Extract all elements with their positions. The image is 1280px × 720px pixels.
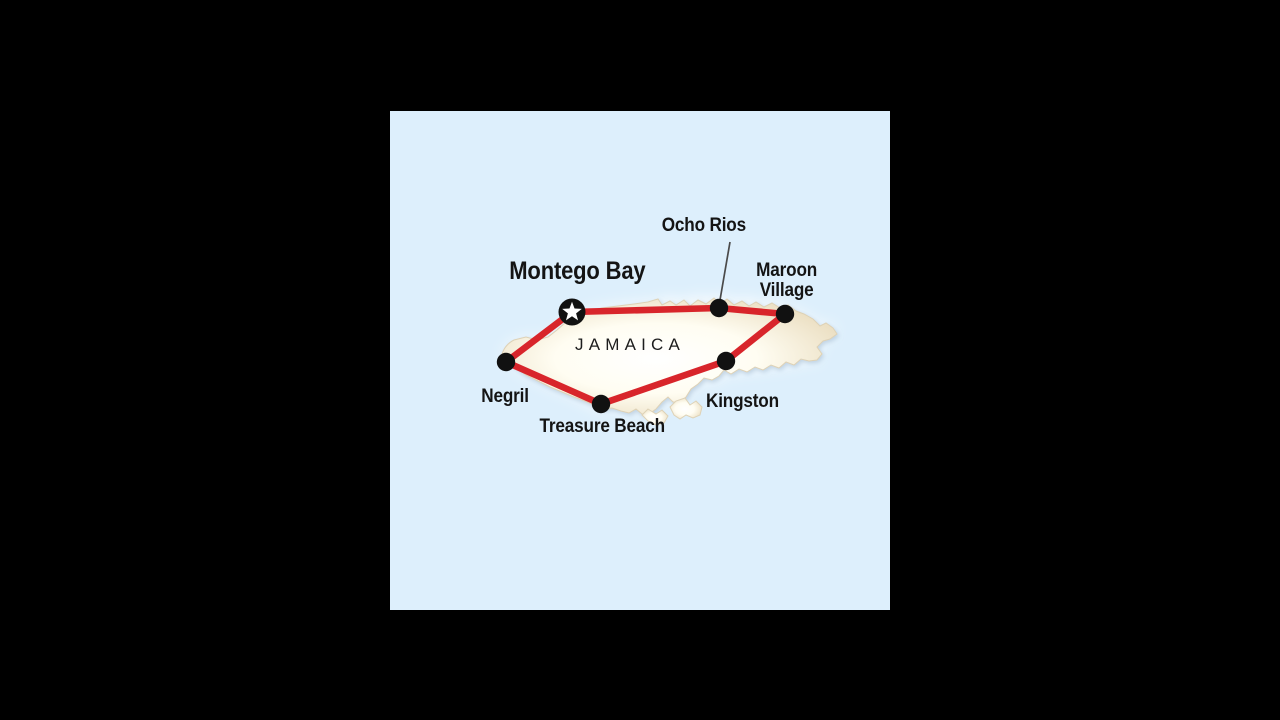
country-label: JAMAICA: [575, 335, 685, 355]
city-label-maroon-village: Maroon Village: [756, 261, 817, 301]
city-dot-maroon-village: [776, 305, 794, 323]
map-panel: JAMAICA Montego Bay Ocho Rios Maroon Vil…: [390, 111, 890, 610]
screenshot-root: JAMAICA Montego Bay Ocho Rios Maroon Vil…: [0, 0, 1280, 720]
city-dot-treasure-beach: [592, 395, 610, 413]
city-label-negril: Negril: [481, 387, 529, 407]
map-graphic: [390, 111, 890, 610]
city-label-treasure-beach: Treasure Beach: [540, 417, 665, 437]
city-label-montego-bay: Montego Bay: [509, 259, 645, 285]
city-dot-kingston: [717, 352, 735, 370]
city-label-maroon-village-line1: Maroon: [756, 261, 817, 281]
city-label-maroon-village-line2: Village: [756, 281, 817, 301]
ocho-rios-leader-line: [720, 242, 730, 300]
city-dot-ocho-rios: [710, 299, 728, 317]
city-dot-negril: [497, 353, 515, 371]
start-marker-montego-bay: [559, 299, 586, 326]
city-label-kingston: Kingston: [706, 392, 779, 412]
city-label-ocho-rios: Ocho Rios: [662, 216, 746, 236]
